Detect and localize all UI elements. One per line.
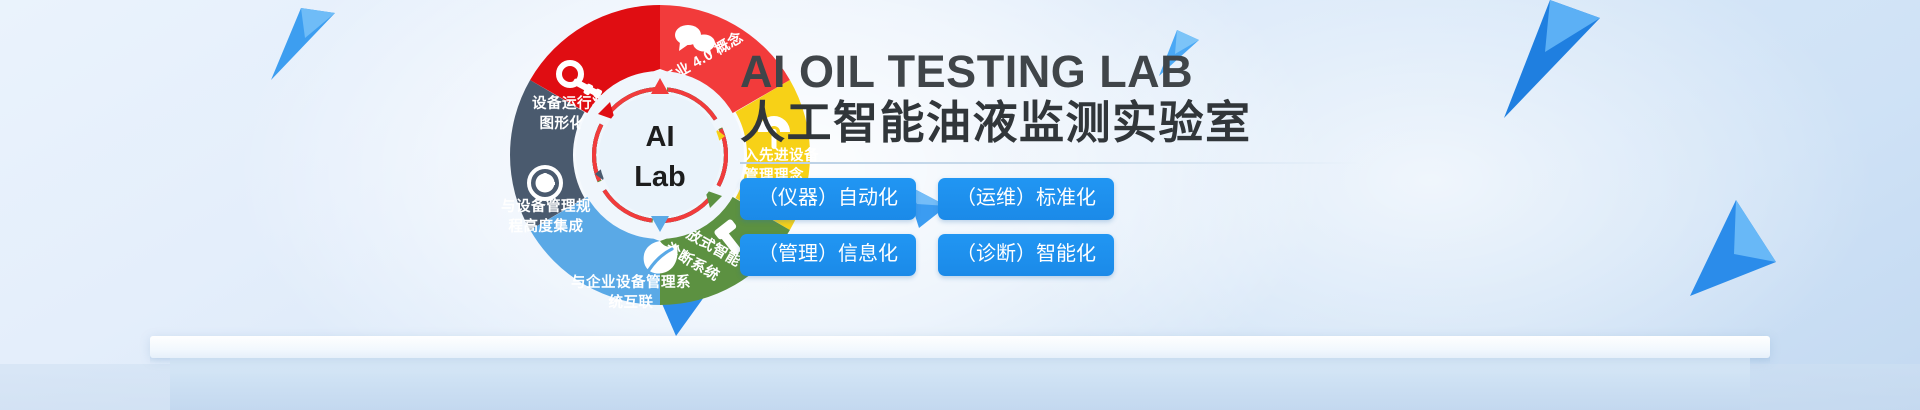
wheel-label-management-integration-line2: 程高度集成 (509, 217, 584, 235)
wheel-center-line1: AI (646, 121, 675, 153)
hero-banner: 基于工业 4.0 概念 嵌入先进设备 管理理念 开放式智能 (0, 0, 1920, 410)
wheel-label-enterprise-link-line1: 与企业设备管理系 (571, 273, 691, 291)
title-chinese: 人工智能油液监测实验室 (740, 98, 1520, 148)
triangle-top-left-icon (265, 8, 335, 80)
feature-tag-list: （仪器）自动化 （运维）标准化 （管理）信息化 （诊断）智能化 (740, 178, 1170, 276)
feature-tag-management[interactable]: （管理）信息化 (740, 234, 916, 276)
divider (740, 162, 1360, 164)
headline-block: AI OIL TESTING LAB 人工智能油液监测实验室 （仪器）自动化 （… (740, 48, 1520, 276)
feature-tag-diagnosis[interactable]: （诊断）智能化 (938, 234, 1114, 276)
wheel-label-enterprise-link-line2: 统互联 (609, 293, 654, 311)
feature-tag-instrument[interactable]: （仪器）自动化 (740, 178, 916, 220)
triangle-mid-right-icon (1690, 200, 1776, 296)
feature-tag-operation[interactable]: （运维）标准化 (938, 178, 1114, 220)
wheel-center-disc (599, 94, 721, 216)
title-english: AI OIL TESTING LAB (740, 48, 1520, 96)
wheel-label-management-integration-line1: 与设备管理规 (501, 197, 591, 215)
wheel-center-line2: Lab (634, 161, 686, 193)
